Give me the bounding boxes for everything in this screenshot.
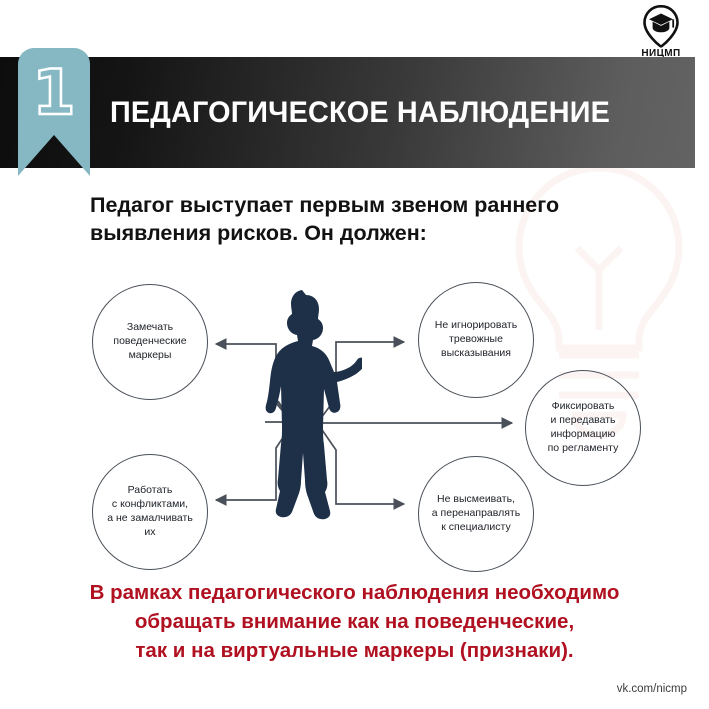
map-pin-graduation-cap-icon <box>640 4 682 48</box>
teacher-silhouette-icon <box>258 284 362 520</box>
bubble-label: Работать с конфликтами, а не замалчивать… <box>92 454 208 570</box>
bubble-record-and-transmit-information: Фиксировать и передавать информацию по р… <box>525 370 641 486</box>
bubble-work-with-conflicts: Работать с конфликтами, а не замалчивать… <box>92 454 208 570</box>
bubble-notice-behavioral-markers: Замечать поведенческие маркеры <box>92 284 208 400</box>
summary-line-2: обращать внимание как на поведенческие, <box>30 607 679 636</box>
section-number-ribbon: 1 <box>18 48 90 176</box>
brand-logo: НИЦМП <box>629 4 693 59</box>
summary-line-1: В рамках педагогического наблюдения необ… <box>30 578 679 607</box>
section-title: ПЕДАГОГИЧЕСКОЕ НАБЛЮДЕНИЕ <box>110 57 610 168</box>
bubble-do-not-ignore-alarming-statements: Не игнорировать тревожные высказывания <box>418 282 534 398</box>
bubble-do-not-ridicule-refer-to-specialist: Не высмеивать, а перенаправлять к специа… <box>418 456 534 572</box>
intro-text: Педагог выступает первым звеном раннего … <box>90 192 630 247</box>
section-banner: 1 ПЕДАГОГИЧЕСКОЕ НАБЛЮДЕНИЕ <box>0 57 695 168</box>
summary-statement: В рамках педагогического наблюдения необ… <box>30 578 679 665</box>
bubble-label: Не высмеивать, а перенаправлять к специа… <box>418 456 534 572</box>
section-number: 1 <box>18 62 90 124</box>
summary-line-3: так и на виртуальные маркеры (признаки). <box>30 636 679 665</box>
footer-link[interactable]: vk.com/nicmp <box>617 683 687 695</box>
bubble-label: Фиксировать и передавать информацию по р… <box>525 370 641 486</box>
radial-diagram: Замечать поведенческие маркеры Работать … <box>0 262 709 572</box>
infographic-slide: НИЦМП 1 ПЕДАГОГИЧЕСКОЕ НАБЛЮДЕНИЕ Педаго… <box>0 0 709 709</box>
bubble-label: Не игнорировать тревожные высказывания <box>418 282 534 398</box>
bubble-label: Замечать поведенческие маркеры <box>92 284 208 400</box>
